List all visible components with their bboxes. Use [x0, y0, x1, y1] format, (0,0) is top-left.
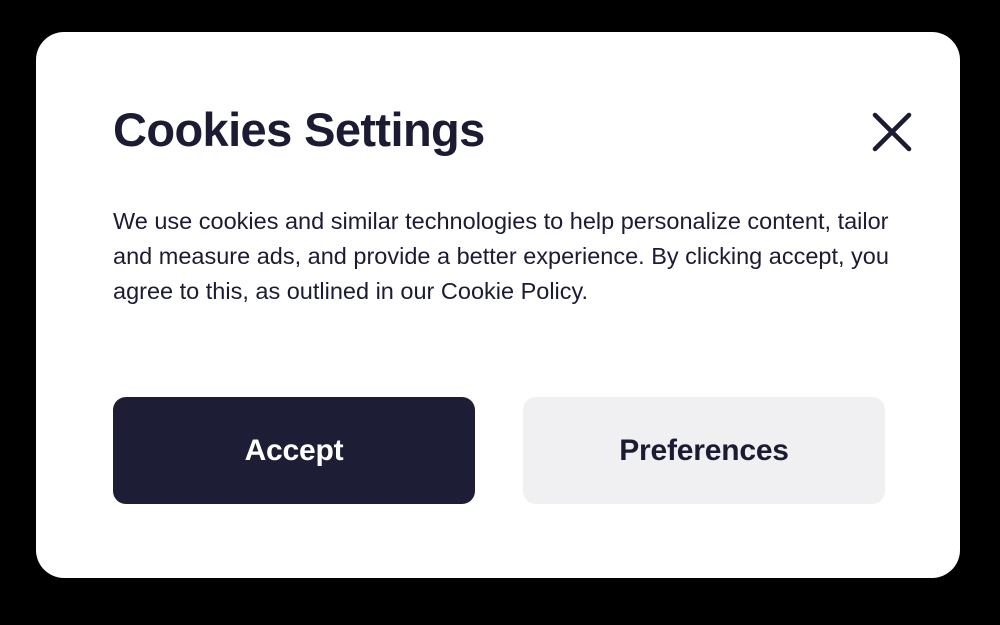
dialog-description: We use cookies and similar technologies …: [113, 204, 903, 309]
page-title: Cookies Settings: [113, 105, 485, 154]
close-icon: [872, 112, 912, 152]
close-button[interactable]: [866, 106, 918, 158]
page-background: Cookies Settings We use cookies and simi…: [0, 0, 1000, 625]
accept-button[interactable]: Accept: [113, 397, 475, 504]
dialog-action-row: Accept Preferences: [113, 397, 885, 504]
preferences-button[interactable]: Preferences: [523, 397, 885, 504]
cookie-settings-dialog: Cookies Settings We use cookies and simi…: [36, 32, 960, 578]
